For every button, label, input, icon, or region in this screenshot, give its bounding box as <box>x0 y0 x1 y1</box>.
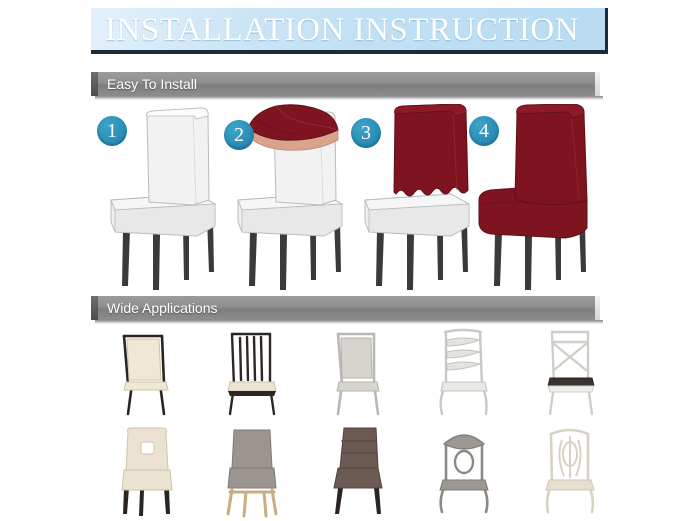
gallery-chair-white-cross-back-chair-dark-seat <box>518 326 618 420</box>
chair-gallery-row <box>80 326 614 420</box>
section-label-easy-to-install: Easy To Install <box>107 72 197 96</box>
section-bar-shadow <box>95 96 603 100</box>
install-step-1: 1 <box>97 104 222 290</box>
chair-gallery <box>80 326 614 518</box>
gallery-chair-cream-keyhole-back-chair <box>94 424 194 518</box>
step-badge-1: 1 <box>97 116 127 146</box>
install-step-2: 2 <box>224 104 349 290</box>
gallery-chair-cream-ornate-splat-back-chair <box>518 424 618 518</box>
step-badge-2: 2 <box>224 120 254 150</box>
section-header-wide-applications: Wide Applications <box>91 296 600 320</box>
page-title: INSTALLATION INSTRUCTION <box>105 7 579 53</box>
chair-gallery-row <box>80 424 614 518</box>
gallery-chair-brown-channel-tufted-chair <box>306 424 406 518</box>
gallery-chair-white-ladder-back-chair <box>412 326 512 420</box>
gallery-chair-dark-frame-cream-panel-back-chair <box>94 326 194 420</box>
gallery-chair-dark-frame-vertical-slat-back-chair <box>200 326 300 420</box>
section-label-wide-applications: Wide Applications <box>107 296 218 320</box>
step-badge-3: 3 <box>351 118 381 148</box>
infographic-page: INSTALLATION INSTRUCTION Easy To Install <box>0 0 694 521</box>
gallery-chair-gray-napoleon-back-chair <box>412 424 512 518</box>
install-step-3: 3 <box>351 104 476 290</box>
title-banner: INSTALLATION INSTRUCTION <box>91 8 608 54</box>
gallery-chair-gray-fabric-chair-oak-legs <box>200 424 300 518</box>
step-badge-4: 4 <box>469 116 499 146</box>
section-header-easy-to-install: Easy To Install <box>91 72 600 96</box>
section-bar-shadow <box>95 320 603 324</box>
gallery-chair-gray-upholstered-square-back-chair <box>306 326 406 420</box>
install-steps: 1 2 <box>91 104 600 290</box>
install-step-4: 4 <box>469 104 594 290</box>
